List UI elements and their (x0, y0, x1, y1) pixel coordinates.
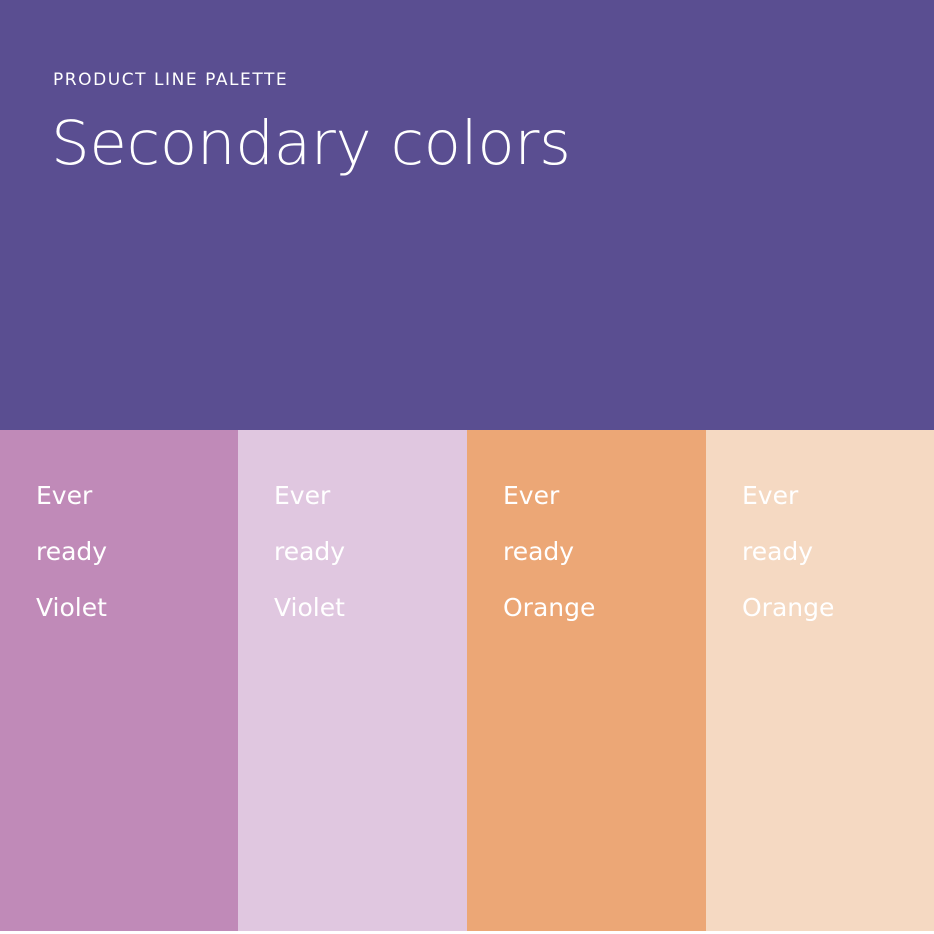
page-title: Secondary colors (51, 106, 571, 182)
palette-slide: PRODUCT LINE PALETTE Secondary colors Ev… (0, 0, 934, 934)
swatch-label-line2: ready (742, 524, 934, 580)
swatch-label-line2: ready (274, 524, 467, 580)
swatch-label-line1: Ever (503, 468, 706, 524)
swatch-label-line1: Ever (274, 468, 467, 524)
swatch-label-line1: Ever (742, 468, 934, 524)
swatch-label-line3: Violet (36, 580, 238, 636)
swatch-label-line2: ready (503, 524, 706, 580)
swatch-label-line1: Ever (36, 468, 238, 524)
eyebrow-label: PRODUCT LINE PALETTE (53, 69, 288, 91)
swatch-row: Ever ready Violet Ever ready Violet Ever… (0, 430, 934, 931)
color-swatch[interactable]: Ever ready Violet (238, 430, 467, 931)
color-swatch[interactable]: Ever ready Orange (706, 430, 934, 931)
swatch-label-line2: ready (36, 524, 238, 580)
swatch-label-line3: Violet (274, 580, 467, 636)
color-swatch[interactable]: Ever ready Violet (0, 430, 238, 931)
color-swatch[interactable]: Ever ready Orange (467, 430, 706, 931)
swatch-label-line3: Orange (742, 580, 934, 636)
swatch-label-line3: Orange (503, 580, 706, 636)
header-banner: PRODUCT LINE PALETTE Secondary colors (0, 0, 934, 430)
